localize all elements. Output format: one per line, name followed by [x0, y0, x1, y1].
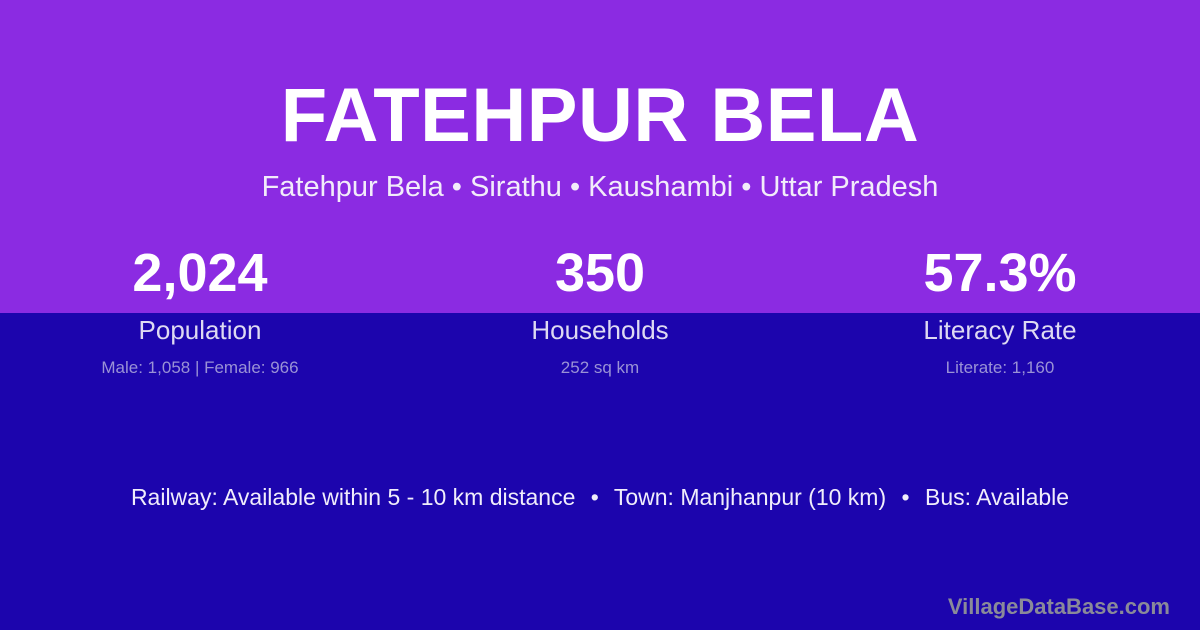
- stats-row: 2,024 Population Male: 1,058 | Female: 9…: [0, 246, 1200, 376]
- village-info-card: FATEHPUR BELA Fatehpur Bela • Sirathu • …: [0, 0, 1200, 630]
- amenity-town: Town: Manjhanpur (10 km): [614, 484, 886, 510]
- bullet-separator-icon: •: [893, 484, 919, 510]
- stat-label-literacy-rate: Literacy Rate: [800, 317, 1200, 343]
- header: FATEHPUR BELA Fatehpur Bela • Sirathu • …: [0, 0, 1200, 202]
- amenities-line: Railway: Available within 5 - 10 km dist…: [0, 486, 1200, 509]
- stat-label-population: Population: [0, 317, 400, 343]
- stat-households: 350 Households 252 sq km: [400, 246, 800, 376]
- stat-value-households: 350: [400, 246, 800, 300]
- stat-label-households: Households: [400, 317, 800, 343]
- stat-value-population: 2,024: [0, 246, 400, 300]
- breadcrumb: Fatehpur Bela • Sirathu • Kaushambi • Ut…: [0, 154, 1200, 202]
- stat-sub-population: Male: 1,058 | Female: 966: [0, 359, 400, 376]
- bullet-separator-icon: •: [582, 484, 608, 510]
- amenity-bus: Bus: Available: [925, 484, 1069, 510]
- stat-literacy-rate: 57.3% Literacy Rate Literate: 1,160: [800, 246, 1200, 376]
- site-brand: VillageDataBase.com: [948, 596, 1170, 618]
- stat-value-literacy-rate: 57.3%: [800, 246, 1200, 300]
- stat-population: 2,024 Population Male: 1,058 | Female: 9…: [0, 246, 400, 376]
- stat-sub-literacy-rate: Literate: 1,160: [800, 359, 1200, 376]
- stat-sub-households: 252 sq km: [400, 359, 800, 376]
- page-title: FATEHPUR BELA: [0, 0, 1200, 154]
- amenity-railway: Railway: Available within 5 - 10 km dist…: [131, 484, 575, 510]
